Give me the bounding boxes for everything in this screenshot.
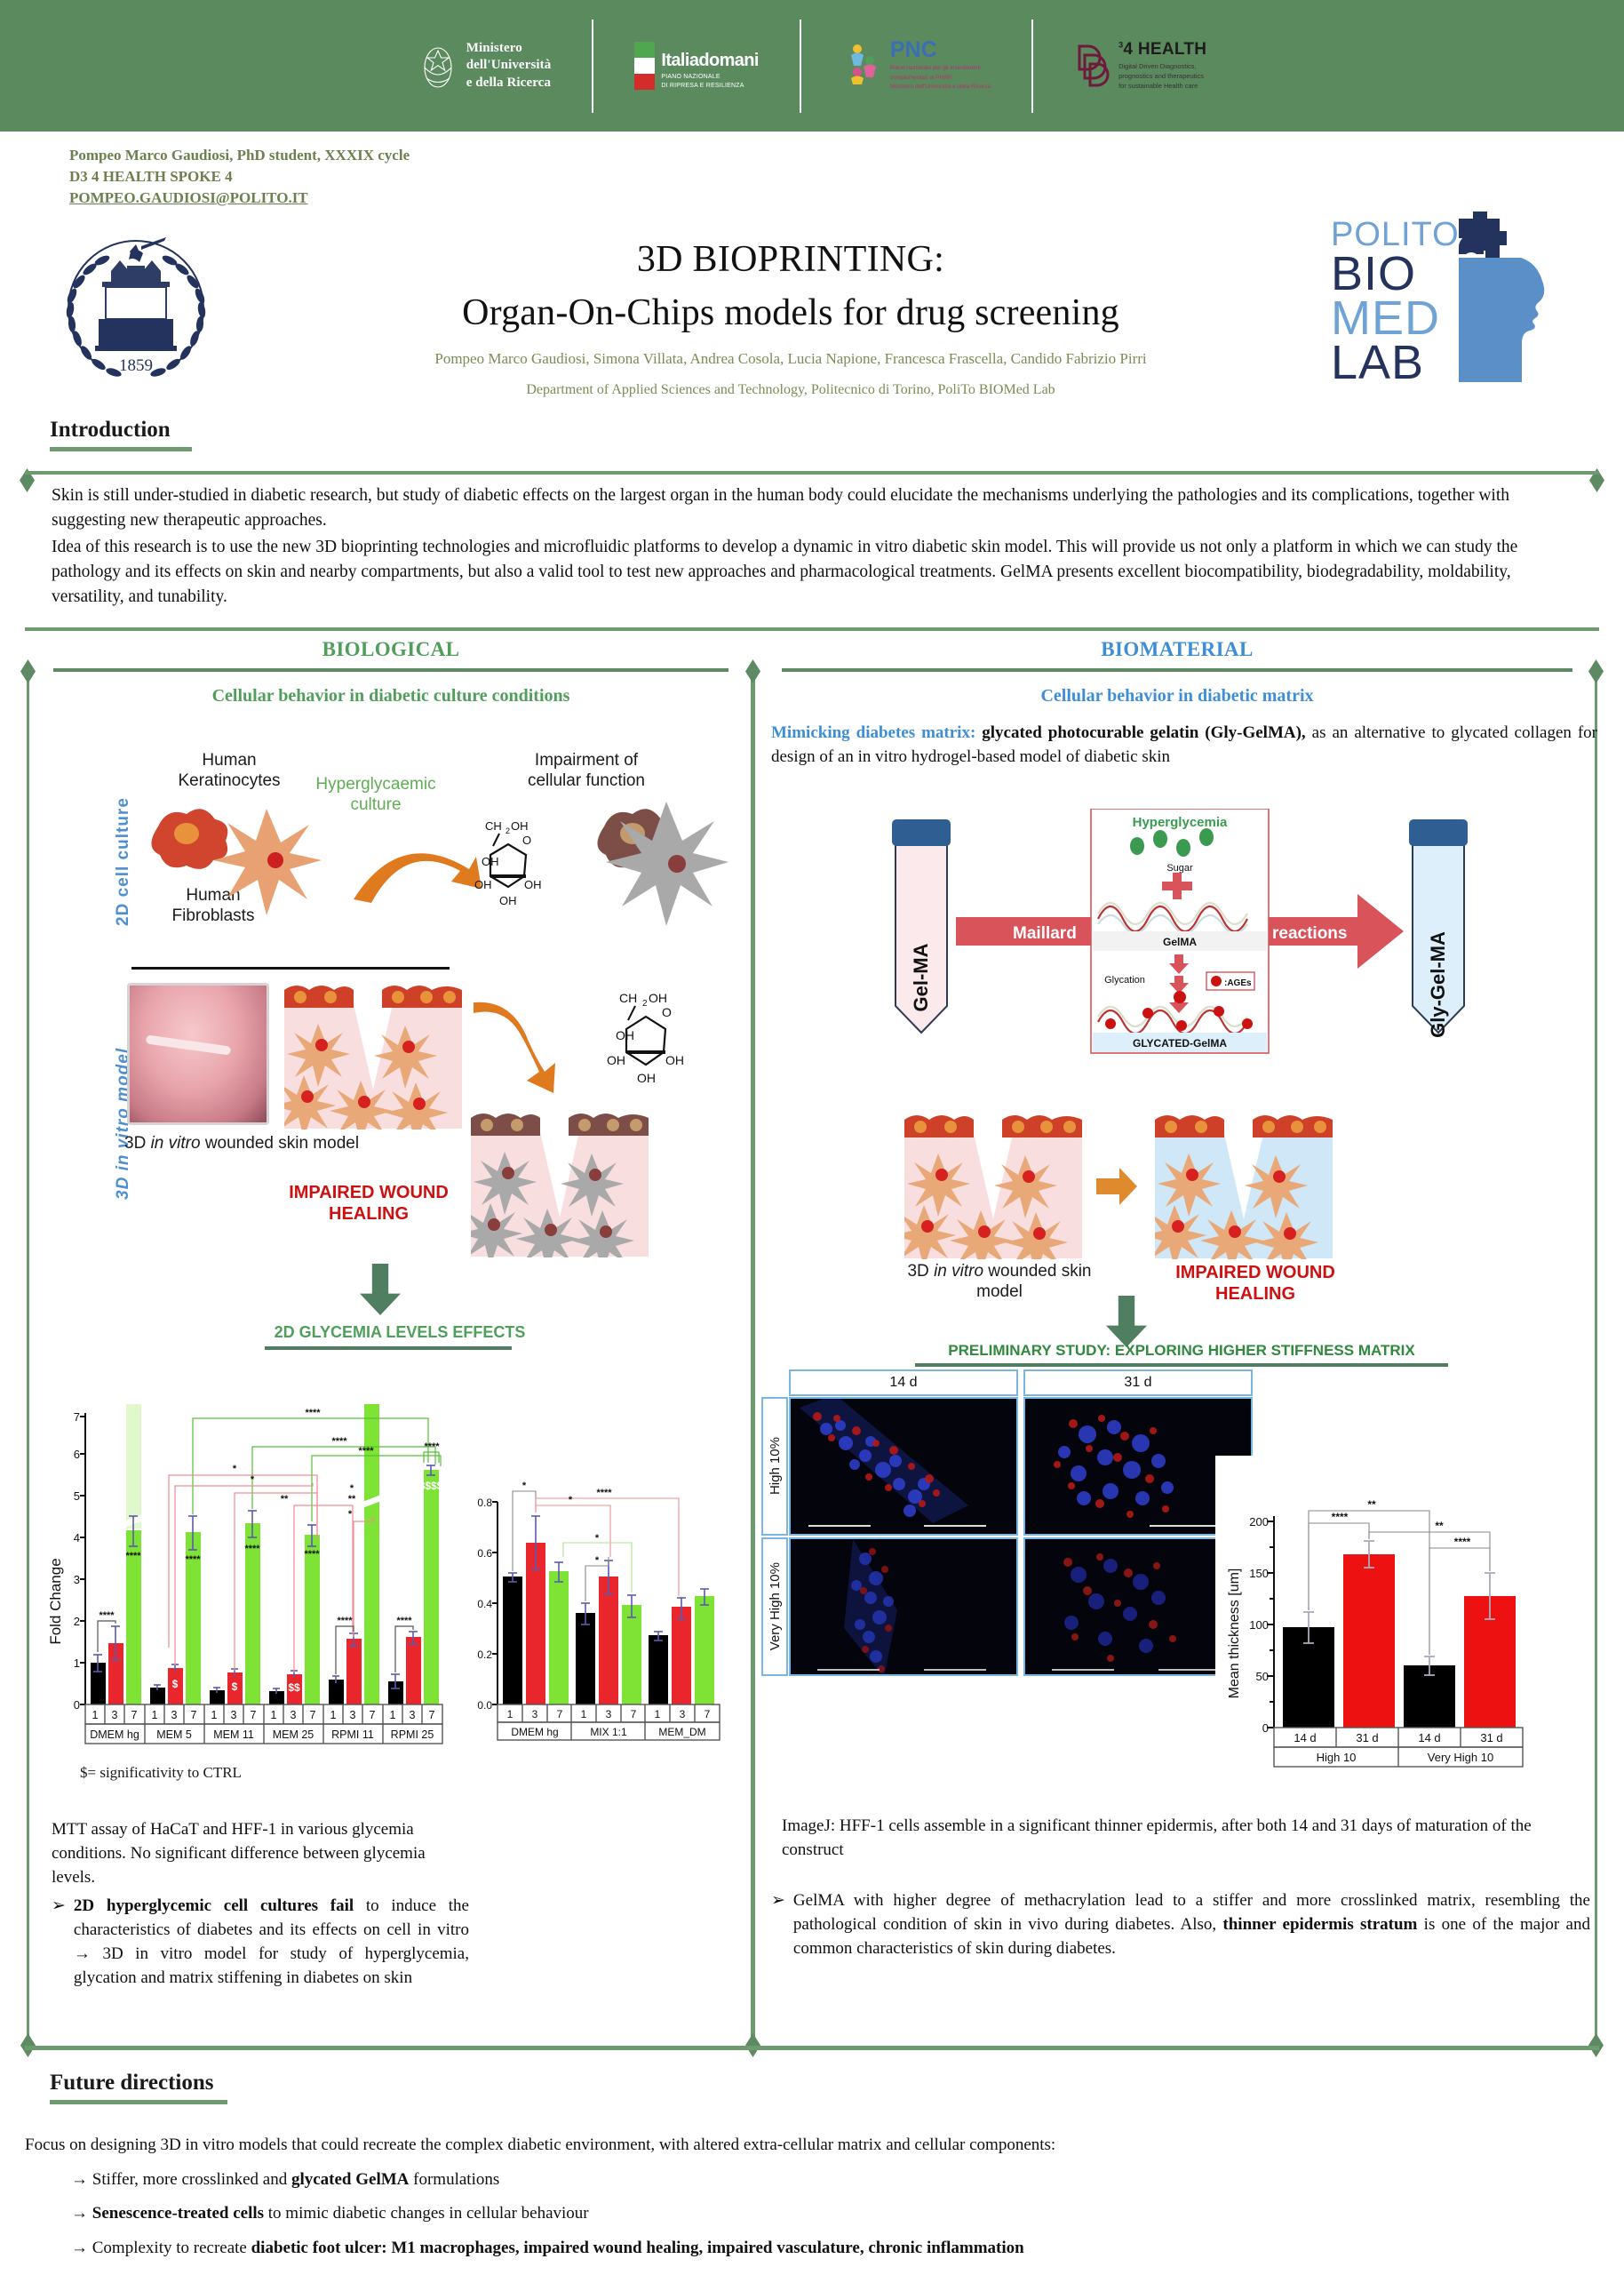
svg-text:150: 150 [1249,1567,1269,1580]
right-subtitle: Cellular behavior in diabetic matrix [782,686,1572,706]
chart-mean-thickness: 050100 150200 Mean thickness [um] [1215,1456,1535,1776]
svg-text:7: 7 [74,1410,80,1424]
svg-text:O: O [662,1005,672,1019]
chart-mtt-hff1: 0.00.20.4 0.60.8 [455,1457,728,1752]
svg-text:****: **** [424,1441,440,1452]
italiadomani-subtitle: PIANO NAZIONALE DI RIPRESA E RESILIENZA [661,73,759,90]
left-caption: MTT assay of HaCaT and HFF-1 in various … [52,1818,469,1890]
reactions-label: reactions [1272,924,1347,943]
svg-text:****: **** [331,1436,347,1447]
svg-text:*: * [348,1509,353,1520]
svg-text:200: 200 [1249,1515,1269,1529]
svg-text:MIX 1:1: MIX 1:1 [590,1726,627,1738]
right-column-border [1595,668,1597,2044]
svg-text:0.8: 0.8 [477,1497,492,1509]
left-section-banner: 2D GLYCEMIA LEVELS EFFECTS [222,1323,577,1343]
author-contact-block: Pompeo Marco Gaudiosi, PhD student, XXXI… [69,145,410,209]
svg-text:$: $ [232,1680,238,1693]
svg-text:3: 3 [410,1709,416,1721]
left-row1-label: 2D cell culture [114,757,133,926]
svg-text:*: * [522,1481,527,1491]
svg-text:14 d: 14 d [1294,1731,1316,1744]
svg-text:$$: $$ [288,1681,300,1694]
svg-text:OH: OH [607,1053,625,1067]
svg-text:7: 7 [705,1708,711,1720]
label-human-keratinocytes: HumanKeratinocytes [149,751,309,792]
left-subtitle: Cellular behavior in diabetic culture co… [53,686,728,706]
svg-text:6: 6 [74,1448,80,1461]
introduction-box: Skin is still under-studied in diabetic … [25,471,1599,631]
column-title-biomaterial: BIOMATERIAL [782,638,1572,661]
column-separator [751,668,755,2044]
logo-ministero: Ministero dell'Università e della Ricerc… [377,20,593,113]
svg-text:5: 5 [74,1489,80,1503]
svg-text:High 10: High 10 [1317,1751,1357,1764]
svg-text:1: 1 [390,1709,396,1721]
right-banner-underline [915,1363,1448,1367]
poster-department: Department of Applied Sciences and Techn… [267,382,1315,398]
svg-text:****: **** [305,1408,321,1418]
svg-text:****: **** [337,1616,353,1626]
micro-row-header-high10: High 10% [761,1397,788,1536]
svg-text:7: 7 [631,1708,637,1720]
svg-text:3: 3 [532,1708,538,1720]
ministero-text: Ministero dell'Università e della Ricerc… [466,40,552,92]
d3-monogram-icon [1074,41,1113,91]
tube-gelma: Gel-MA [892,819,951,1033]
ministero-emblem-icon [418,41,458,91]
svg-text:CH: CH [485,819,502,833]
left-banner-underline [265,1346,512,1350]
svg-text:****: **** [185,1554,201,1565]
svg-text:1: 1 [581,1708,587,1720]
hyperglycemia-label: Hyperglycemia [1133,815,1228,830]
svg-text:O: O [522,834,531,847]
left-chart-footnote: $= significativity to CTRL [80,1764,364,1782]
gear-icon [1459,212,1507,258]
svg-text:1: 1 [655,1708,661,1720]
svg-text:$: $ [172,1678,179,1690]
poster-title-line2: Organ-On-Chips models for drug screening [267,291,1315,334]
right-skin-model-healthy [904,1113,1082,1259]
right-border-diamond-top [1588,659,1604,683]
label-impairment-cellular-function: Impairment ofcellular function [498,751,675,792]
introduction-heading-block: Introduction [50,418,192,451]
svg-text:0.0: 0.0 [477,1699,492,1712]
micro-col-header-31d: 31 d [1023,1369,1253,1396]
future-content: Focus on designing 3D in vitro models th… [25,2133,1599,2261]
right-bullet-bold: thinner epidermis stratum [1222,1915,1417,1934]
author-email[interactable]: POMPEO.GAUDIOSI@POLITO.IT [69,188,410,209]
svg-text:3: 3 [291,1709,297,1721]
future-rule [50,2100,227,2104]
svg-text:*: * [233,1464,237,1474]
svg-text:****: **** [358,1446,374,1457]
future-item-2: → Senescence-treated cells to mimic diab… [25,2201,1599,2227]
svg-text:3: 3 [606,1708,612,1720]
svg-text:100: 100 [1249,1618,1269,1632]
svg-text:3: 3 [231,1709,237,1721]
svg-text:$$$$: $$$$ [419,1480,443,1492]
tube-gly-gelma: Gly-Gel-MA [1409,819,1468,1038]
left-bullet: ➢ 2D hyperglycemic cell cultures fail to… [52,1882,469,1991]
svg-text:2: 2 [642,999,648,1009]
petri-dish-photo [127,983,269,1125]
svg-text:OH: OH [665,1053,684,1067]
svg-text:3: 3 [680,1708,686,1720]
svg-text:2: 2 [506,826,510,835]
right-skin-model-impaired [1155,1113,1333,1259]
right-transition-arrow-icon [1095,1164,1139,1209]
right-lead-label: Mimicking diabetes matrix: [771,723,975,742]
italiadomani-title: Italiadomani [661,51,759,71]
svg-text:14 d: 14 d [1418,1731,1440,1744]
svg-text:MEM 25: MEM 25 [273,1728,314,1741]
svg-text:*: * [350,1483,354,1494]
svg-text:0.4: 0.4 [477,1598,492,1610]
wounded-skin-model-impaired [471,1111,649,1257]
svg-text:7: 7 [429,1709,435,1721]
svg-text:OH: OH [524,878,542,891]
right-3d-model-caption: 3D in vitro wounded skinmodel [888,1262,1111,1303]
future-item-3: → Complexity to recreate diabetic foot u… [25,2236,1599,2262]
svg-text:OH: OH [649,991,667,1005]
sugar-label: Sugar [1166,863,1193,874]
svg-text:1: 1 [211,1709,218,1721]
svg-text:31 d: 31 d [1480,1731,1502,1744]
d3-4health-title: 34 HEALTH [1118,41,1206,58]
svg-text:31 d: 31 d [1356,1731,1378,1744]
svg-text:7: 7 [251,1709,257,1721]
left-column-border [27,668,29,2044]
left-bullet-bold: 2D hyperglycemic cell cultures fail [74,1896,354,1915]
maillard-label: Maillard [1013,924,1077,943]
ages-badge: :AGEs [1206,972,1254,990]
cells-2d-illustration: CH2OH OOH OHOH OH [133,791,746,960]
gelma-label: GelMA [1163,936,1197,948]
maillard-reaction-diagram: Gel-MA Gly-Gel-MA Maillard reactions Hyp… [871,809,1493,1058]
svg-text:*: * [569,1495,573,1505]
right-down-arrow-icon [1106,1296,1147,1347]
author-name-line: Pompeo Marco Gaudiosi, PhD student, XXXI… [69,145,410,166]
head-profile-icon [1459,258,1544,382]
svg-text:Very High 10: Very High 10 [1428,1751,1493,1764]
svg-text:Gel-MA: Gel-MA [910,943,932,1011]
svg-text:DMEM hg: DMEM hg [511,1726,558,1738]
right-section-banner: PRELIMINARY STUDY: EXPLORING HIGHER STIF… [800,1342,1564,1360]
svg-text:MEM 11: MEM 11 [213,1728,254,1741]
svg-text:Gly-Gel-MA: Gly-Gel-MA [1427,931,1449,1038]
svg-text:Fold Change: Fold Change [47,1558,64,1644]
svg-text:0.2: 0.2 [477,1648,492,1661]
svg-text:OH: OH [474,878,492,891]
svg-text:****: **** [596,1488,612,1498]
logo-d3-4-health: 34 HEALTH Digital Driven Diagnostics, pr… [1033,20,1247,113]
svg-text:Mean thickness [um]: Mean thickness [um] [1227,1569,1242,1699]
svg-text:OH: OH [499,894,517,907]
biomed-lab: LAB [1331,336,1424,389]
svg-text:7: 7 [310,1709,316,1721]
glycation-label: Glycation [1104,975,1145,986]
micrograph-veryhigh10-14d [789,1537,1018,1676]
future-intro: Focus on designing 3D in vitro models th… [25,2133,1599,2159]
spoke-line: D3 4 HEALTH SPOKE 4 [69,166,410,188]
svg-text:****: **** [125,1551,141,1561]
introduction-heading: Introduction [50,418,171,442]
svg-text:7: 7 [370,1709,376,1721]
future-heading: Future directions [50,2071,214,2095]
column-separator-diamond-top [745,659,760,683]
svg-text:7: 7 [131,1709,138,1721]
polito-biomed-lab-logo: POLITO BIO MED LAB [1325,212,1583,389]
svg-text:3: 3 [112,1709,118,1721]
italian-flag-icon [634,42,655,90]
svg-text:*: * [595,1533,600,1544]
svg-text:50: 50 [1256,1670,1269,1683]
svg-text:CH: CH [619,991,637,1005]
svg-text:2: 2 [74,1615,80,1628]
funding-logo-band: Ministero dell'Università e della Ricerc… [0,0,1624,132]
svg-text:3: 3 [74,1573,80,1586]
future-heading-block: Future directions [50,2071,254,2104]
right-caption: ImageJ: HFF-1 cells assemble in a signif… [782,1815,1590,1863]
svg-text:**: ** [1367,1498,1376,1511]
micrograph-high10-14d [789,1397,1018,1536]
svg-text:0.6: 0.6 [477,1547,492,1560]
right-bullet-arrow-icon: ➢ [771,1889,785,1913]
future-top-rule [25,2046,1599,2050]
svg-text:OH: OH [511,819,529,833]
glycated-gelma-label: GLYCATED-GelMA [1133,1037,1227,1050]
left-impaired-wound-healing: IMPAIRED WOUNDHEALING [258,1182,480,1225]
left-border-diamond-top [20,659,36,683]
left-3d-model-caption: 3D in vitro wounded skin model [124,1134,471,1154]
pnc-subtitle: Piano nazionale per gli investimenti com… [890,64,991,92]
d3-4health-subtitle: Digital Driven Diagnostics, prognostics … [1118,61,1206,92]
left-bullet-arrow-icon: ➢ [52,1895,66,1919]
svg-text:4: 4 [74,1531,80,1545]
introduction-rule [50,447,192,451]
pnc-title: PNC [890,39,991,61]
svg-text:7: 7 [191,1709,197,1721]
svg-text:****: **** [1454,1536,1471,1548]
svg-text:1: 1 [330,1709,337,1721]
svg-text:****: **** [1332,1511,1349,1523]
svg-text:1: 1 [92,1709,99,1721]
svg-text:1: 1 [507,1708,513,1720]
svg-text:1: 1 [152,1709,158,1721]
svg-text:****: **** [99,1610,115,1621]
poster-title-block: 3D BIOPRINTING: Organ-On-Chips models fo… [267,238,1315,398]
introduction-paragraph-1: Skin is still under-studied in diabetic … [52,483,1572,533]
svg-text:DMEM hg: DMEM hg [90,1728,139,1741]
right-bullet: ➢ GelMA with higher degree of methacryla… [771,1877,1590,1961]
micro-row-header-veryhigh10: Very High 10% [761,1537,788,1676]
svg-text:0: 0 [74,1698,80,1712]
svg-text:*: * [595,1555,600,1566]
logo-divider-1 [592,20,593,113]
logo-divider-3 [1031,20,1033,113]
seal-year: 1859 [119,356,153,375]
politecnico-seal-icon: 1859 [49,227,223,401]
svg-text:3: 3 [350,1709,356,1721]
column-rule-biomaterial [782,668,1572,672]
right-lead-bold: glycated photocurable gelatin (Gly-GelMA… [982,723,1305,742]
right-impaired-wound-healing: IMPAIRED WOUNDHEALING [1153,1262,1357,1305]
svg-text::AGEs: :AGEs [1224,978,1252,988]
pnc-people-icon [842,39,885,85]
svg-text:3: 3 [171,1709,178,1721]
column-rule-biological [53,668,728,672]
svg-text:7: 7 [557,1708,563,1720]
svg-text:**: ** [281,1494,289,1505]
logo-pnc: PNC Piano nazionale per gli investimenti… [801,20,1031,113]
logo-divider-2 [800,20,801,113]
poster-title-line1: 3D BIOPRINTING: [267,238,1315,281]
svg-text:****: **** [244,1544,260,1554]
svg-text:OH: OH [637,1071,656,1085]
poster-authors: Pompeo Marco Gaudiosi, Simona Villata, A… [267,350,1315,368]
chart-mtt-hacat: 012 345 67 Fold Change [46,1397,448,1752]
introduction-paragraph-2: Idea of this research is to use the new … [52,535,1572,610]
wounded-skin-model-healthy [284,983,462,1130]
svg-text:MEM 5: MEM 5 [156,1728,192,1741]
svg-text:**: ** [1435,1520,1444,1532]
svg-text:****: **** [396,1616,412,1626]
svg-text:MEM_DM: MEM_DM [658,1726,705,1738]
svg-text:RPMI 25: RPMI 25 [391,1728,434,1741]
svg-text:**: ** [348,1494,356,1505]
svg-text:RPMI 11: RPMI 11 [331,1728,374,1741]
logo-italiadomani: Italiadomani PIANO NAZIONALE DI RIPRESA … [593,20,800,113]
svg-text:****: **** [304,1549,320,1560]
left-down-arrow-icon [360,1264,401,1315]
svg-text:*: * [251,1474,255,1485]
future-item-1: → Stiffer, more crosslinked and glycated… [25,2167,1599,2193]
svg-text:1: 1 [271,1709,277,1721]
svg-text:OH: OH [616,1028,634,1042]
left-section-divider [131,967,450,970]
svg-text:OH: OH [482,855,499,868]
right-lead-paragraph: Mimicking diabetes matrix: glycated phot… [771,722,1597,770]
svg-text:1: 1 [74,1656,80,1670]
micro-col-header-14d: 14 d [789,1369,1018,1396]
column-title-biological: BIOLOGICAL [53,638,728,661]
